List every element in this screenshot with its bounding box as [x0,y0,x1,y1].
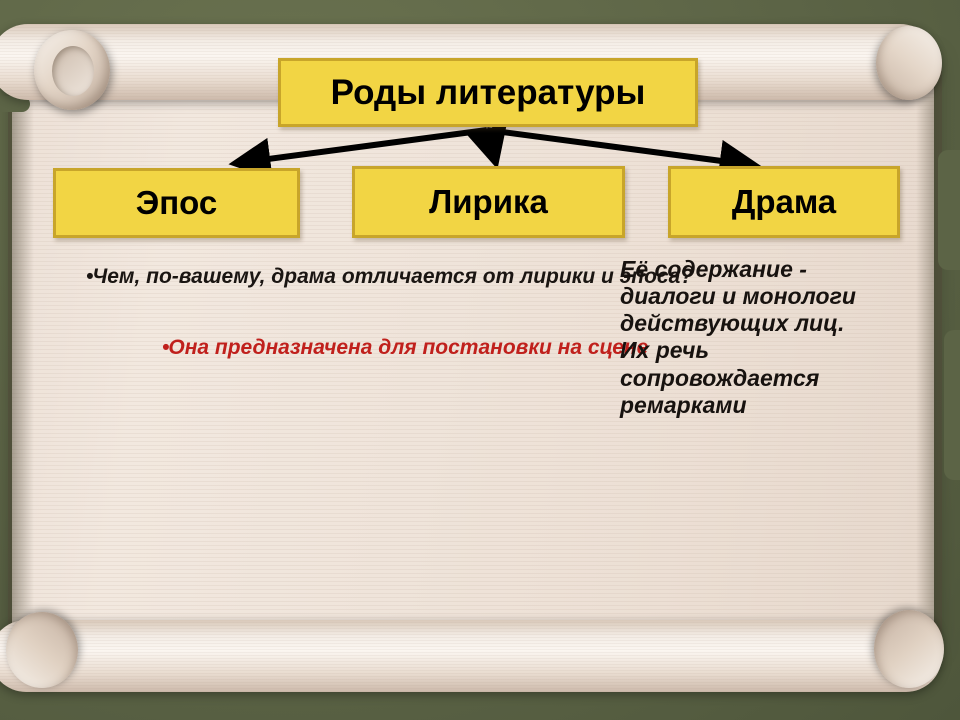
parchment-left-edge [8,58,34,650]
parchment-notch-right-lower [944,330,960,480]
scroll-bottom-roll [0,620,942,692]
answer-text: Она предназначена для постановки на сцен… [168,336,648,359]
side-note-text: Её содержание - диалоги и монологи дейст… [620,256,876,419]
parchment-right-edge [916,58,942,650]
diagram-node-lirika-label: Лирика [429,183,548,221]
scroll-curl-bottom-right [874,610,944,688]
diagram-node-title[interactable]: Роды литературы [278,58,698,127]
diagram-node-epos[interactable]: Эпос [53,168,300,238]
question-text: Чем, по-вашему, драма отличается от лири… [92,265,693,288]
slide-canvas: Роды литературы Эпос Лирика Драма •Чем, … [0,0,960,720]
scroll-curl-top-right [876,26,942,100]
diagram-node-drama[interactable]: Драма [668,166,900,238]
diagram-node-epos-label: Эпос [136,184,218,222]
diagram-node-lirika[interactable]: Лирика [352,166,625,238]
diagram-node-drama-label: Драма [732,183,836,221]
scroll-curl-bottom-left [6,612,78,688]
diagram-node-title-label: Роды литературы [331,73,646,113]
parchment-notch-right-upper [938,150,960,270]
scroll-curl-top-left-hole [52,46,94,96]
